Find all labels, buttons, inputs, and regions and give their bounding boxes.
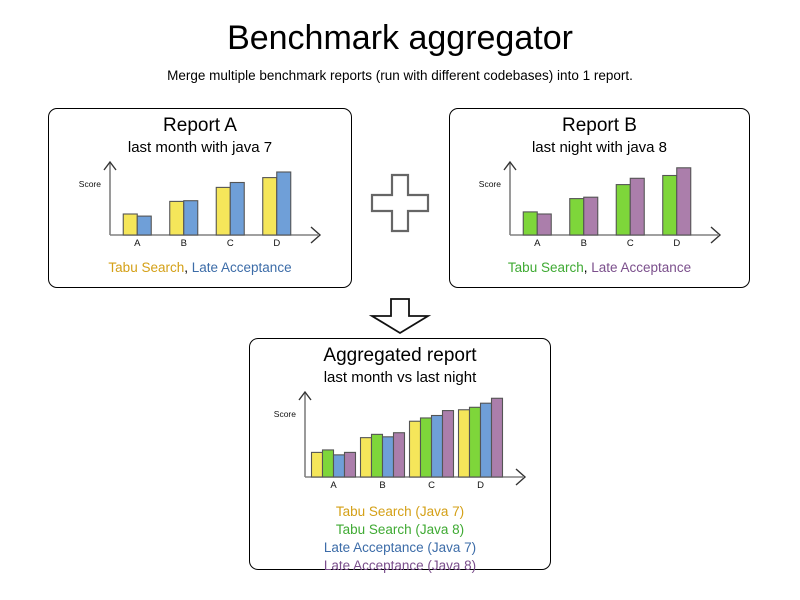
svg-text:A: A [134,238,141,249]
legend-item: Tabu Search [508,260,584,275]
report-b-legend: Tabu Search, Late Acceptance [450,259,749,276]
report-a-title: Report A [49,115,351,137]
legend-item: Tabu Search (Java 8) [250,521,550,539]
aggregated-subtitle: last month vs last night [250,368,550,387]
svg-text:B: B [580,238,586,249]
svg-text:C: C [227,238,234,249]
report-b-title: Report B [450,115,749,137]
svg-text:Score: Score [274,409,296,419]
page-title: Benchmark aggregator [0,18,800,58]
aggregated-legend: Tabu Search (Java 7)Tabu Search (Java 8)… [250,503,550,575]
legend-item: Tabu Search (Java 7) [250,503,550,521]
report-a-chart: ScoreABCD [70,157,330,257]
svg-text:A: A [534,238,541,249]
aggregated-title: Aggregated report [250,345,550,367]
legend-item: Tabu Search [108,260,184,275]
legend-item: Late Acceptance [192,260,292,275]
svg-text:Score: Score [478,179,500,189]
report-b-subtitle: last night with java 8 [450,138,749,157]
svg-text:A: A [330,480,337,491]
svg-text:D: D [477,480,484,491]
svg-text:B: B [181,238,187,249]
svg-text:Score: Score [79,179,101,189]
legend-item: Late Acceptance [591,260,691,275]
legend-item: Late Acceptance (Java 8) [250,557,550,575]
report-a-subtitle: last month with java 7 [49,138,351,157]
plus-sign-icon [367,170,433,236]
svg-text:D: D [673,238,680,249]
report-b-chart: ScoreABCD [470,157,730,257]
panel-aggregated-report: Aggregated report last month vs last nig… [249,338,551,570]
page-subtitle: Merge multiple benchmark reports (run wi… [0,68,800,84]
panel-report-a: Report A last month with java 7 ScoreABC… [48,108,352,288]
svg-text:B: B [379,480,385,491]
panel-report-b: Report B last night with java 8 ScoreABC… [449,108,750,288]
svg-text:C: C [428,480,435,491]
report-a-legend: Tabu Search, Late Acceptance [49,259,351,276]
aggregated-chart: ScoreABCD [265,387,535,499]
legend-item: Late Acceptance (Java 7) [250,539,550,557]
svg-text:D: D [273,238,280,249]
legend-separator: , [184,260,192,275]
down-arrow-icon [368,297,432,335]
svg-text:C: C [626,238,633,249]
